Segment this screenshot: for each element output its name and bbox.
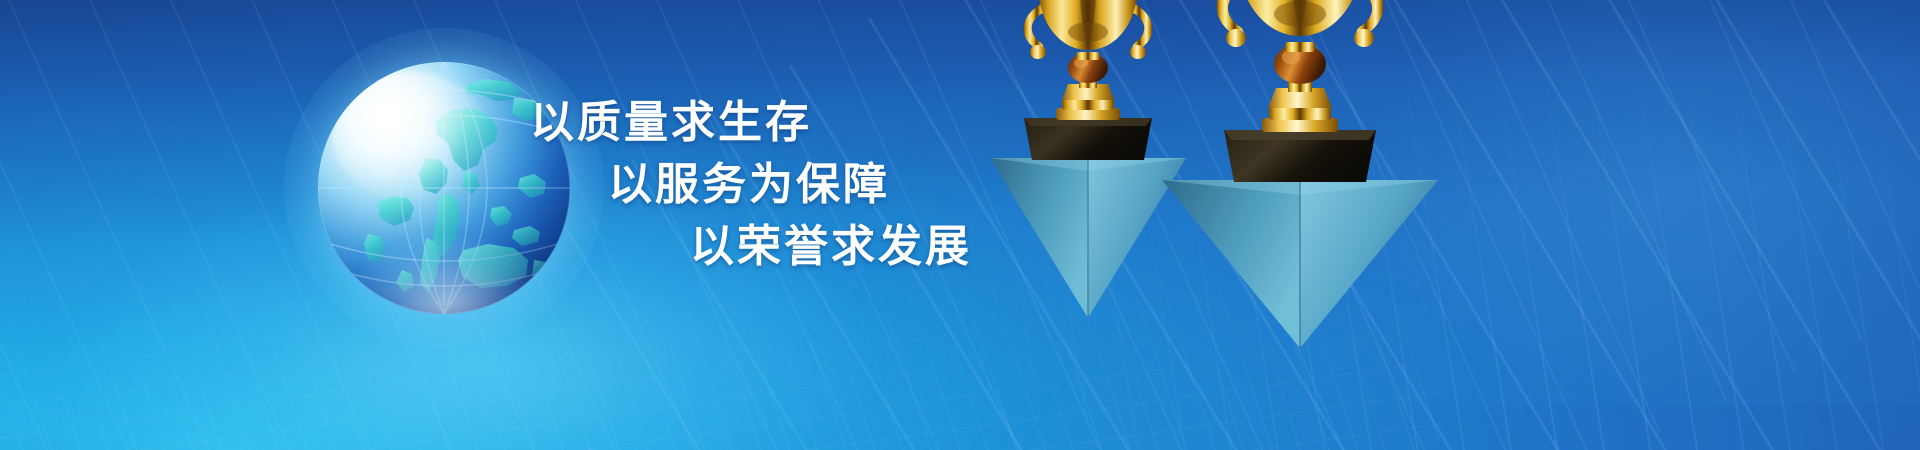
background-vignette [0,0,1920,450]
banner-root: 以质量求生存 以服务为保障 以荣誉求发展 [0,0,1920,450]
